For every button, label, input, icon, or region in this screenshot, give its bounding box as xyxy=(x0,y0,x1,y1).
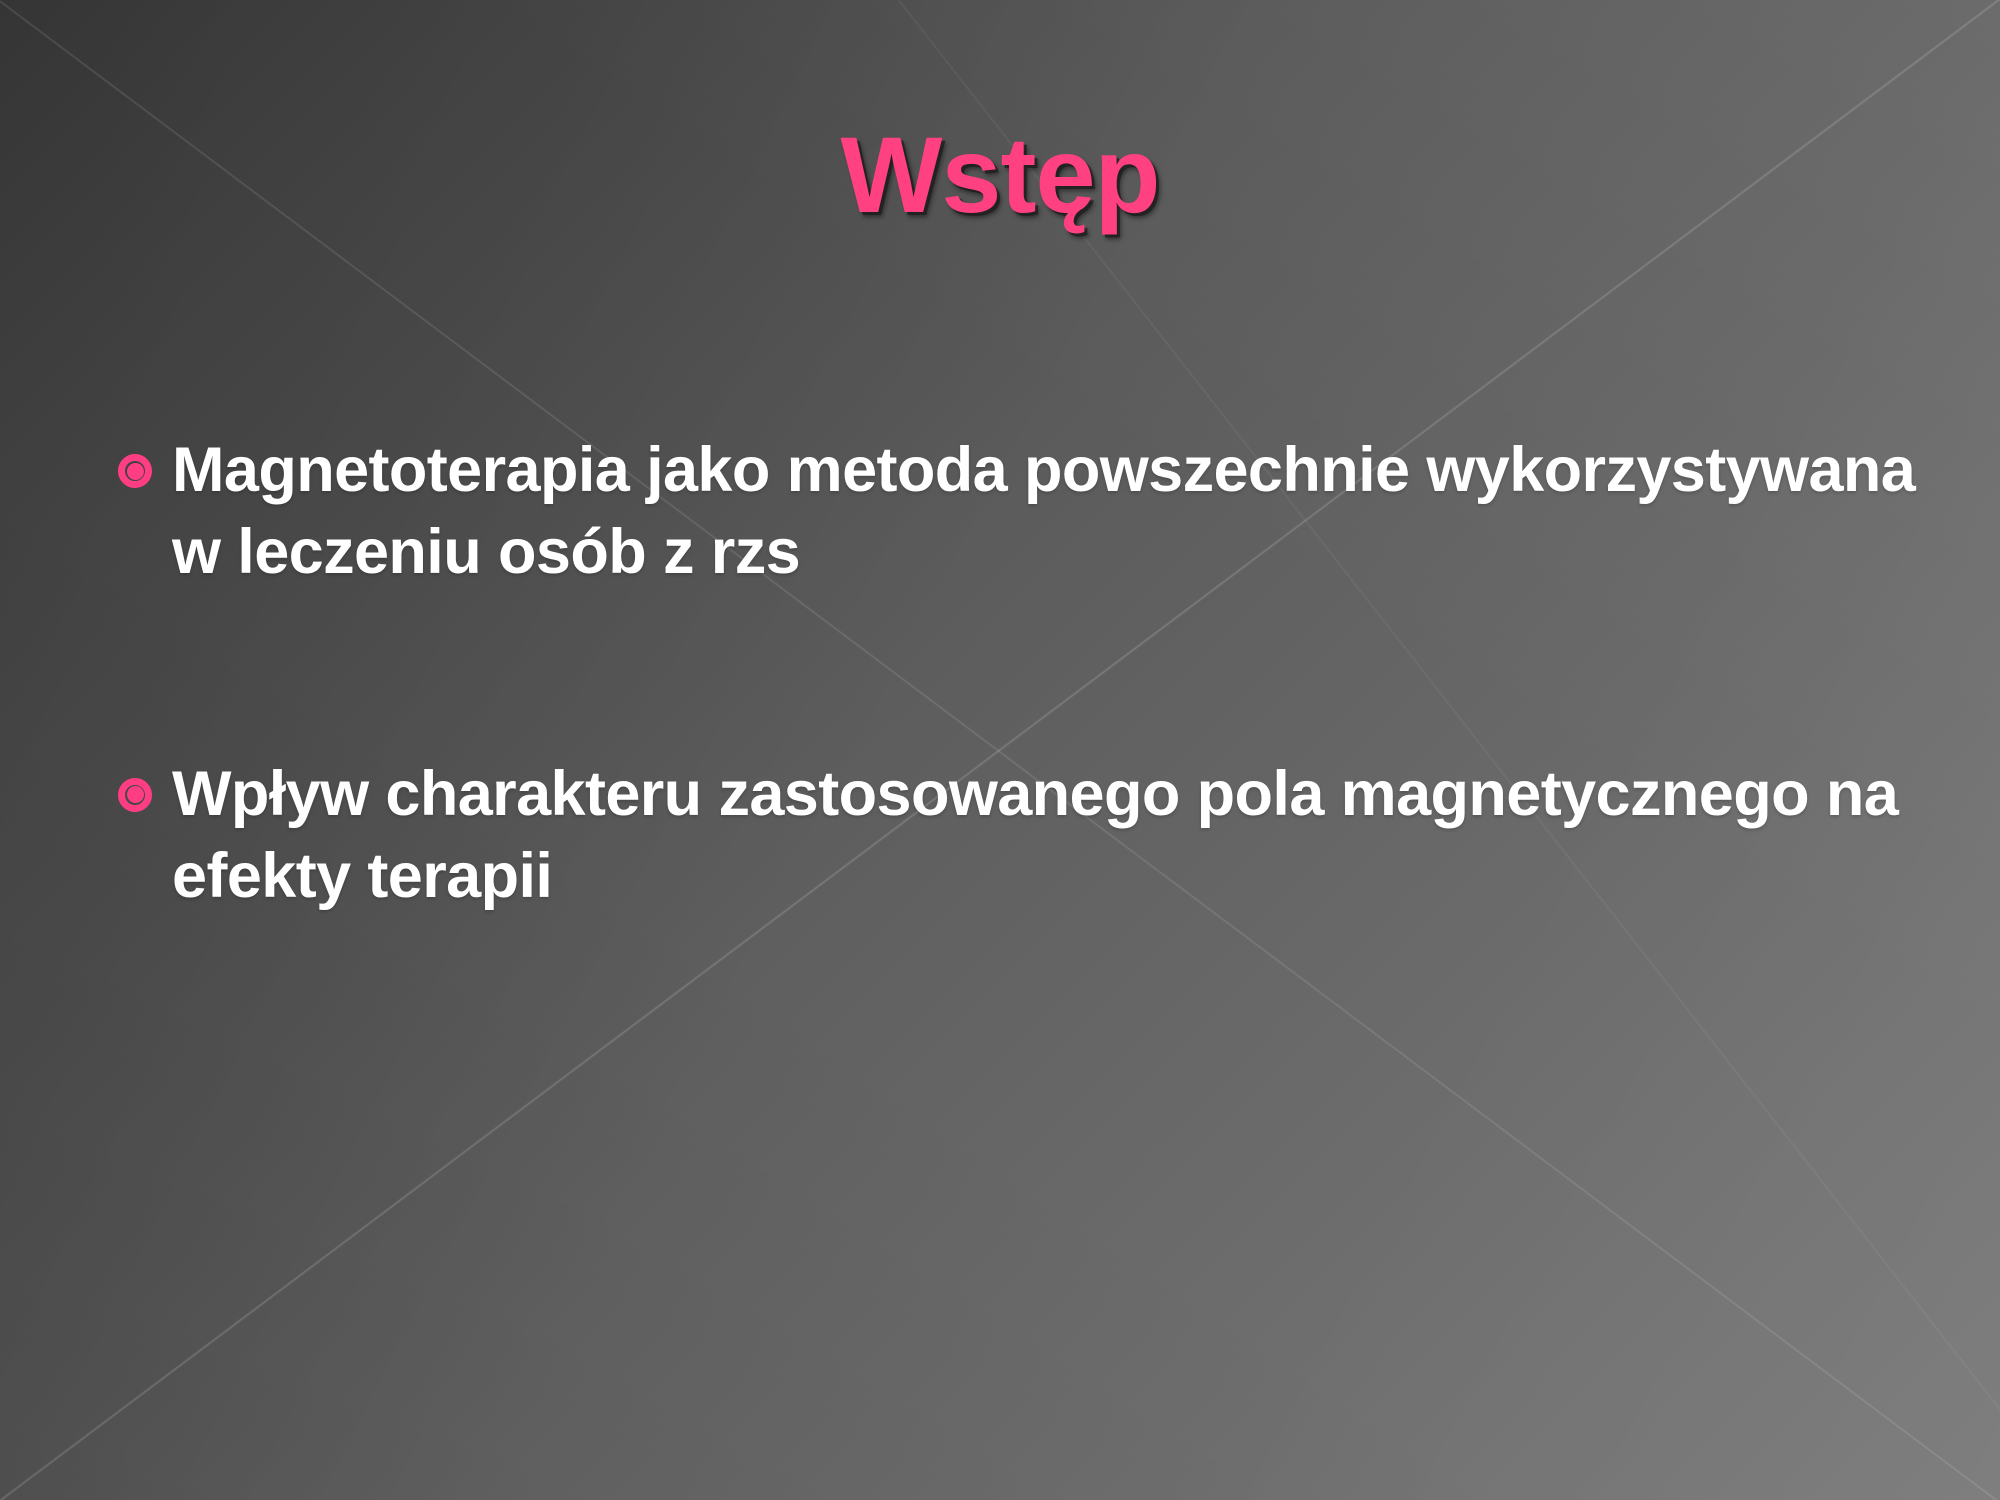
list-item[interactable]: Wpływ charakteru zastosowanego pola magn… xyxy=(108,754,1948,918)
presentation-slide: Wstęp Magnetoterapia jako metoda powszec… xyxy=(0,0,2000,1500)
slide-title-area: Wstęp xyxy=(0,118,2000,231)
list-item[interactable]: Magnetoterapia jako metoda powszechnie w… xyxy=(108,430,1948,594)
bullet-marker xyxy=(108,454,162,488)
bullet-marker xyxy=(108,778,162,812)
page-title: Wstęp xyxy=(841,118,1160,231)
list-item-label: Magnetoterapia jako metoda powszechnie w… xyxy=(172,430,1948,594)
list-item-label: Wpływ charakteru zastosowanego pola magn… xyxy=(172,754,1948,918)
slide-body: Magnetoterapia jako metoda powszechnie w… xyxy=(108,430,1948,960)
target-ring-bullet-icon xyxy=(118,778,152,812)
target-ring-bullet-icon xyxy=(118,454,152,488)
